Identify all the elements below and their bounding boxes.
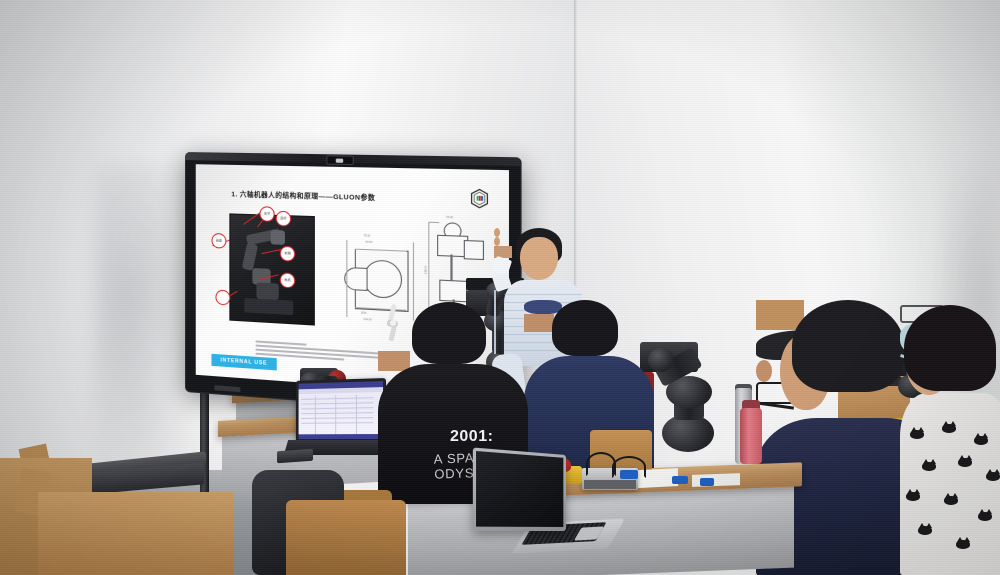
app-toolbar — [299, 387, 383, 394]
chair-front[interactable] — [286, 500, 406, 575]
slide-callout: 基座 — [211, 233, 226, 249]
camera-icon — [326, 155, 353, 165]
blue-connector — [620, 470, 638, 479]
slide-title: 1. 六轴机器人的结构和原理——GLUON参数 — [231, 188, 375, 202]
hexagon-brand-logo-icon — [470, 189, 488, 209]
cardboard-box-front — [38, 492, 234, 575]
robot-arm-photo — [229, 213, 315, 325]
slide-callout — [215, 290, 230, 306]
attendee-masked — [900, 305, 1000, 575]
slide-callout: 末端 — [280, 246, 295, 262]
camera-lens-icon — [336, 158, 343, 162]
attendee-hair — [412, 302, 486, 364]
laptop-screen[interactable] — [299, 381, 383, 439]
attendee-hair — [904, 305, 996, 391]
blue-connector — [700, 478, 714, 486]
slide-callout: 连杆 — [276, 211, 291, 227]
attendee-ear — [756, 360, 772, 382]
pink-water-bottle[interactable] — [740, 408, 762, 464]
laptop-lid — [296, 378, 386, 442]
classroom-scene: 1. 六轴机器人的结构和原理——GLUON参数 — [0, 0, 1000, 575]
attendee-hair — [792, 300, 904, 392]
tshirt-text-line1: 2001: — [450, 428, 493, 446]
app-status-bar — [299, 434, 383, 439]
laptop-lid — [473, 447, 566, 531]
laptop-screen[interactable] — [476, 451, 563, 527]
presenter-face — [520, 237, 558, 280]
attendee-hair — [552, 300, 618, 356]
smartphone[interactable] — [277, 449, 313, 464]
space-station-graphic-icon — [378, 302, 408, 346]
attendee-neck — [524, 314, 554, 332]
attendee-neck — [378, 351, 410, 371]
laptop-left[interactable] — [286, 378, 390, 458]
attendee-cat-print-shirt — [900, 393, 1000, 575]
presenter-ear-right — [494, 237, 500, 246]
laptop-center[interactable] — [470, 455, 615, 551]
robot-arm-right — [640, 342, 736, 472]
slide-callout: 电机 — [280, 272, 295, 288]
presenter-ear-left — [494, 228, 500, 237]
blue-connector — [672, 476, 688, 484]
slide-callout: 关节 — [259, 206, 274, 222]
